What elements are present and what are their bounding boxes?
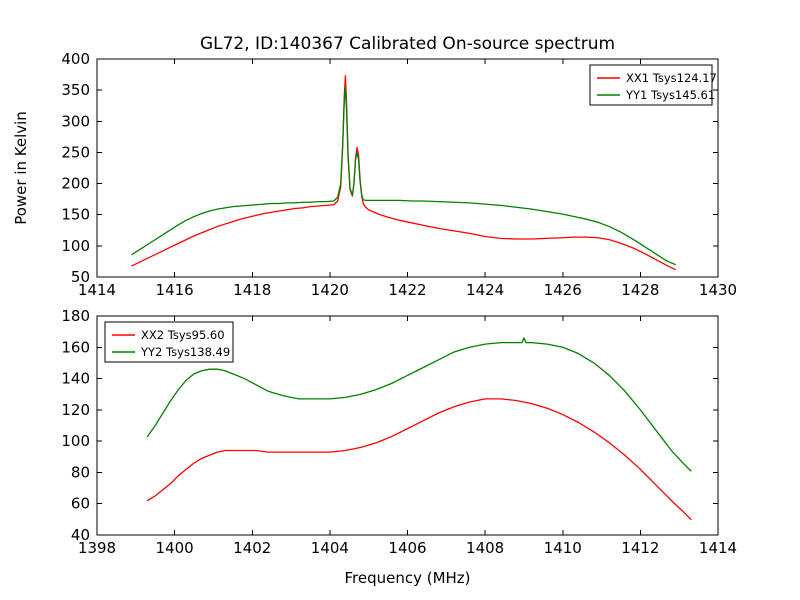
x-axis-label: Frequency (MHz) [344,569,470,587]
legend-label-yy1: YY1 Tsys145.61 [625,88,715,102]
x-tick-label-1414: 1414 [699,539,737,557]
x-tick-label-1410: 1410 [544,539,582,557]
y-tick-label-140: 140 [61,370,90,388]
series-line-xx2 [147,399,690,519]
legend-label-xx1: XX1 Tsys124.17 [626,71,717,85]
x-tick-label-1400: 1400 [156,539,194,557]
y-tick-label-80: 80 [71,463,90,481]
x-tick-label-1406: 1406 [388,539,426,557]
y-axis-label: Power in Kelvin [12,111,30,225]
y-tick-label-40: 40 [71,526,90,544]
y-tick-label-300: 300 [61,112,90,130]
y-tick-label-180: 180 [61,307,90,325]
legend-label-yy2: YY2 Tsys138.49 [140,345,230,359]
y-tick-label-400: 400 [61,50,90,68]
y-tick-label-100: 100 [61,432,90,450]
y-tick-label-50: 50 [71,268,90,286]
x-tick-label-1412: 1412 [621,539,659,557]
x-tick-label-1424: 1424 [466,281,504,299]
y-tick-label-160: 160 [61,338,90,356]
spectrum-figure: 1414141614181420142214241426142814305010… [0,0,800,600]
legend-label-xx2: XX2 Tsys95.60 [141,328,225,342]
x-tick-label-1430: 1430 [699,281,737,299]
y-tick-label-120: 120 [61,401,90,419]
y-tick-label-200: 200 [61,175,90,193]
x-tick-label-1422: 1422 [388,281,426,299]
x-tick-label-1420: 1420 [311,281,349,299]
figure-canvas: 1414141614181420142214241426142814305010… [0,0,800,600]
x-tick-label-1408: 1408 [466,539,504,557]
x-tick-label-1428: 1428 [621,281,659,299]
x-tick-label-1426: 1426 [544,281,582,299]
x-tick-label-1418: 1418 [233,281,271,299]
x-tick-label-1402: 1402 [233,539,271,557]
y-tick-label-100: 100 [61,237,90,255]
x-tick-label-1416: 1416 [156,281,194,299]
plot-title: GL72, ID:140367 Calibrated On-source spe… [200,34,615,54]
y-tick-label-150: 150 [61,206,90,224]
y-tick-label-350: 350 [61,81,90,99]
y-tick-label-60: 60 [71,495,90,513]
y-tick-label-250: 250 [61,143,90,161]
x-tick-label-1404: 1404 [311,539,349,557]
